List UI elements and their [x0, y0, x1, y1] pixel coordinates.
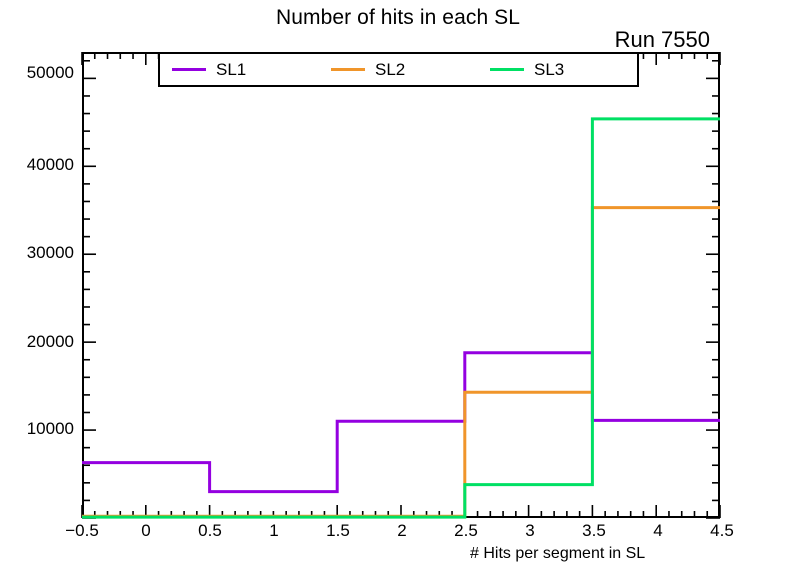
x-tick-label-3: 3	[495, 521, 565, 541]
x-tick-label-0: 0	[111, 521, 181, 541]
legend-label-sl3: SL3	[534, 60, 564, 80]
x-tick-label-3-5: 3.5	[559, 521, 629, 541]
root-canvas: Number of hits in each SL Run 7550 # Seg…	[0, 0, 796, 572]
legend-label-sl1: SL1	[216, 60, 246, 80]
x-tick-label-1: 1	[239, 521, 309, 541]
legend-swatch-sl2	[331, 68, 365, 71]
legend-entry-sl1[interactable]: SL1	[160, 60, 319, 80]
x-tick-label-2-5: 2.5	[431, 521, 501, 541]
x-tick-label-4: 4	[623, 521, 693, 541]
x-axis-label: # Hits per segment in SL	[470, 545, 645, 563]
legend-entry-sl2[interactable]: SL2	[319, 60, 478, 80]
x-tick-label-0-5: 0.5	[175, 521, 245, 541]
run-label: Run 7550	[615, 27, 710, 53]
y-tick-label-30000: 30000	[0, 243, 74, 263]
x-tick-label-4-5: 4.5	[687, 521, 757, 541]
x-tick-label-m0-5: −0.5	[47, 521, 117, 541]
x-tick-label-2: 2	[367, 521, 437, 541]
legend: SL1 SL2 SL3	[158, 52, 639, 87]
y-tick-label-10000: 10000	[0, 419, 74, 439]
y-tick-label-40000: 40000	[0, 155, 74, 175]
plot-frame	[82, 52, 720, 518]
legend-swatch-sl1	[172, 68, 206, 71]
legend-entry-sl3[interactable]: SL3	[478, 60, 637, 80]
x-tick-label-1-5: 1.5	[303, 521, 373, 541]
legend-label-sl2: SL2	[375, 60, 405, 80]
y-tick-label-20000: 20000	[0, 332, 74, 352]
y-tick-label-50000: 50000	[0, 63, 74, 83]
legend-swatch-sl3	[490, 68, 524, 71]
